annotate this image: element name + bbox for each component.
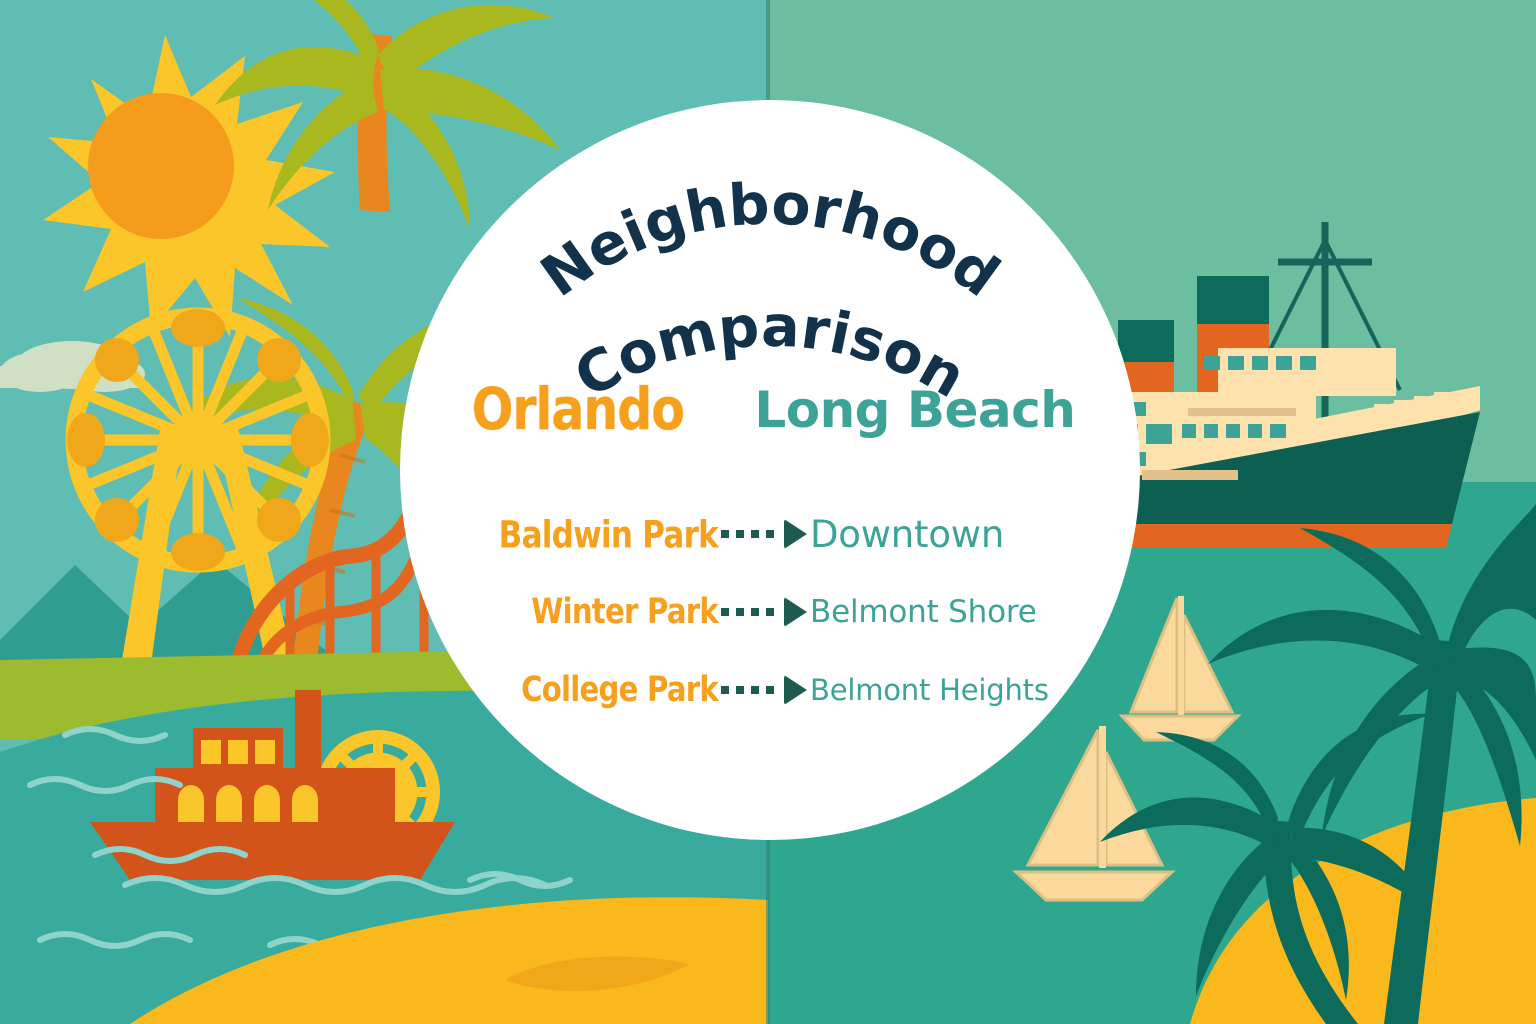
dotted-arrow-icon xyxy=(718,519,810,549)
dotted-arrow-icon xyxy=(718,675,810,705)
neighborhood-pair-row: Baldwin Park Downtown xyxy=(400,495,1140,573)
longbeach-neighborhood-label: Downtown xyxy=(810,513,1004,556)
city-heading-row: Orlando Long Beach xyxy=(400,375,1140,445)
neighborhood-pair-row: Winter Park Belmont Shore xyxy=(400,573,1140,651)
medallion-circle xyxy=(400,100,1140,840)
infographic-canvas: Neighborhood Comparison Orlando Long Bea… xyxy=(0,0,1536,1024)
neighborhood-pairs-list: Baldwin Park Downtown Winter Park Belmon… xyxy=(400,495,1140,729)
orlando-neighborhood-label: Baldwin Park xyxy=(419,512,718,556)
orlando-neighborhood-label: Winter Park xyxy=(419,592,718,632)
longbeach-neighborhood-label: Belmont Heights xyxy=(810,673,1049,707)
city-left-label: Orlando xyxy=(471,376,683,443)
longbeach-neighborhood-label: Belmont Shore xyxy=(810,594,1037,630)
city-right-label: Long Beach xyxy=(754,381,1075,439)
neighborhood-pair-row: College Park Belmont Heights xyxy=(400,651,1140,729)
dotted-arrow-icon xyxy=(718,597,810,627)
orlando-neighborhood-label: College Park xyxy=(419,670,718,710)
sun-core xyxy=(88,93,234,239)
